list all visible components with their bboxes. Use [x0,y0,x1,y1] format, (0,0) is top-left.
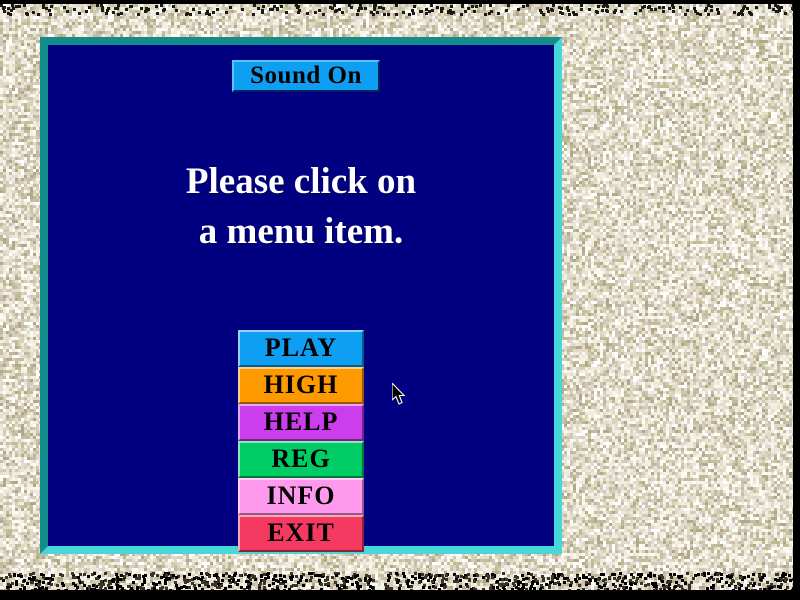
menu-button-label: PLAY [265,333,337,362]
game-panel: Sound On Please click on a menu item. PL… [40,37,562,554]
menu-button-play[interactable]: PLAY [238,330,364,367]
menu-button-label: REG [271,444,330,473]
menu-button-label: INFO [267,481,336,510]
prompt-line-1: Please click on [48,157,554,207]
menu-button-reg[interactable]: REG [238,441,364,478]
game-panel-inner: Sound On Please click on a menu item. PL… [48,45,554,546]
menu-button-help[interactable]: HELP [238,404,364,441]
prompt-message: Please click on a menu item. [48,157,554,257]
prompt-line-2: a menu item. [48,207,554,257]
sound-toggle-button[interactable]: Sound On [232,60,380,92]
menu-button-label: EXIT [267,518,335,547]
menu-button-label: HELP [264,407,339,436]
application-screen: Sound On Please click on a menu item. PL… [0,0,800,600]
arrow-pointer-icon [392,383,408,407]
menu-button-label: HIGH [264,370,339,399]
menu-button-high[interactable]: HIGH [238,367,364,404]
menu-button-exit[interactable]: EXIT [238,515,364,552]
main-menu: PLAYHIGHHELPREGINFOEXIT [238,330,364,552]
menu-button-info[interactable]: INFO [238,478,364,515]
